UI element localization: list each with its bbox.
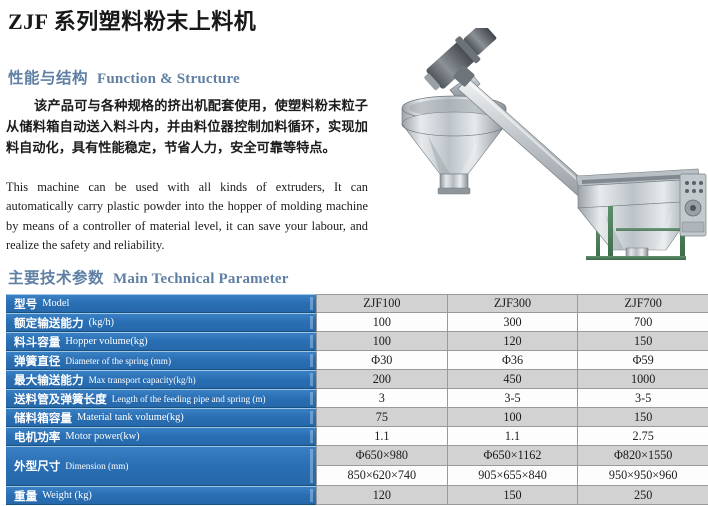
spec-values-wrap: 1.11.12.75 — [316, 427, 708, 446]
spec-label-english: Motor power(kw) — [65, 431, 139, 442]
spec-label-chinese: 型号 — [14, 296, 37, 312]
spec-values-wrap: 100300700 — [316, 313, 708, 332]
spec-label-cell: 电机功率Motor power(kw) — [6, 427, 316, 446]
section-heading-function-cn: 性能与结构 — [8, 70, 88, 87]
function-paragraph-chinese: 该产品可与各种规格的挤出机配套使用，使塑料粉末粒子从储料箱自动送入料斗内，并由料… — [6, 96, 368, 160]
spec-label-chinese: 弹簧直径 — [14, 353, 60, 369]
spec-value-cell: 700 — [578, 313, 708, 332]
spec-value-cell: 3-5 — [578, 389, 708, 408]
spec-value-cell: 1.1 — [448, 427, 579, 446]
spec-value-cell: 2.75 — [578, 427, 708, 446]
spec-value-cell: 950×950×960 — [578, 466, 708, 486]
section-heading-function-en: Function & Structure — [97, 71, 240, 87]
spec-values-row: ZJF100ZJF300ZJF700 — [317, 294, 708, 313]
spec-label-cell: 储料箱容量Material tank volume(kg) — [6, 408, 316, 427]
spec-value-cell: 100 — [317, 313, 448, 332]
spec-value-cell: 200 — [317, 370, 448, 389]
spec-label-cell: 弹簧直径Diameter of the spring (mm) — [6, 351, 316, 370]
spec-value-cell: 850×620×740 — [317, 466, 448, 486]
spec-value-cell: 120 — [317, 486, 448, 505]
spec-label-english: Dimension (mm) — [65, 461, 128, 471]
spec-value-cell: 3 — [317, 389, 448, 408]
spec-values-row: 850×620×740905×655×840950×950×960 — [317, 466, 708, 486]
spec-values-wrap: 100120150 — [316, 332, 708, 351]
spec-label-cell: 重量Weight (kg) — [6, 486, 316, 505]
spec-label-cell: 额定输送能力(kg/h) — [6, 313, 316, 332]
spec-label-english: Max transport capacity(kg/h) — [89, 375, 196, 385]
table-row: 重量Weight (kg)120150250 — [6, 486, 708, 505]
spec-values-wrap: 2004501000 — [316, 370, 708, 389]
spec-value-cell: 120 — [448, 332, 579, 351]
table-row: 储料箱容量Material tank volume(kg)75100150 — [6, 408, 708, 427]
spec-value-cell: ZJF300 — [448, 294, 579, 313]
spec-value-cell: Φ650×1162 — [448, 446, 579, 466]
section-heading-parameters-cn: 主要技术参数 — [8, 270, 104, 287]
spec-values-row: 120150250 — [317, 486, 708, 505]
spec-value-cell: 905×655×840 — [448, 466, 579, 486]
spec-label-chinese: 外型尺寸 — [14, 458, 60, 474]
spec-label-english: Model — [42, 298, 69, 309]
section-heading-parameters-en: Main Technical Parameter — [113, 271, 289, 287]
spec-values-wrap: 75100150 — [316, 408, 708, 427]
page-title: ZJF 系列塑料粉末上料机 — [8, 4, 256, 36]
table-row: 电机功率Motor power(kw)1.11.12.75 — [6, 427, 708, 446]
spec-label-chinese: 送料管及弹簧长度 — [14, 391, 107, 407]
spec-label-english: Hopper volume(kg) — [65, 336, 147, 347]
spec-label-cell: 料斗容量Hopper volume(kg) — [6, 332, 316, 351]
spec-values-row: 75100150 — [317, 408, 708, 427]
spec-label-chinese: 重量 — [14, 488, 37, 504]
spec-label-chinese: 储料箱容量 — [14, 410, 72, 426]
spec-value-cell: Φ650×980 — [317, 446, 448, 466]
spec-value-cell: 450 — [448, 370, 579, 389]
function-paragraph-english: This machine can be used with all kinds … — [6, 178, 368, 256]
spec-value-cell: 150 — [578, 332, 708, 351]
spec-value-cell: 100 — [317, 332, 448, 351]
machine-illustration — [380, 28, 708, 260]
table-row: 额定输送能力(kg/h)100300700 — [6, 313, 708, 332]
table-row: 送料管及弹簧长度Length of the feeding pipe and s… — [6, 389, 708, 408]
product-photo-screw-feeder — [380, 28, 708, 260]
spec-values-wrap: Φ650×980Φ650×1162Φ820×1550850×620×740905… — [316, 446, 708, 486]
spec-value-cell: ZJF100 — [317, 294, 448, 313]
spec-value-cell: Φ30 — [317, 351, 448, 370]
section-heading-parameters: 主要技术参数Main Technical Parameter — [8, 266, 289, 288]
spec-values-row: Φ30Φ36Φ59 — [317, 351, 708, 370]
spec-value-cell: 3-5 — [448, 389, 579, 408]
spec-value-cell: Φ59 — [578, 351, 708, 370]
spec-value-cell: Φ36 — [448, 351, 579, 370]
spec-table: 型号ModelZJF100ZJF300ZJF700额定输送能力(kg/h)100… — [6, 294, 708, 505]
spec-label-cell: 型号Model — [6, 294, 316, 313]
spec-value-cell: 300 — [448, 313, 579, 332]
spec-values-wrap: 33-53-5 — [316, 389, 708, 408]
spec-value-cell: Φ820×1550 — [578, 446, 708, 466]
spec-values-wrap: Φ30Φ36Φ59 — [316, 351, 708, 370]
section-heading-function: 性能与结构Function & Structure — [8, 66, 240, 88]
spec-label-chinese: 电机功率 — [14, 429, 60, 445]
table-row: 型号ModelZJF100ZJF300ZJF700 — [6, 294, 708, 313]
spec-label-cell: 外型尺寸Dimension (mm) — [6, 446, 316, 486]
table-row: 弹簧直径Diameter of the spring (mm)Φ30Φ36Φ59 — [6, 351, 708, 370]
spec-values-row: 1.11.12.75 — [317, 427, 708, 446]
spec-values-row: 100300700 — [317, 313, 708, 332]
spec-label-chinese: 料斗容量 — [14, 334, 60, 350]
spec-value-cell: ZJF700 — [578, 294, 708, 313]
spec-values-wrap: 120150250 — [316, 486, 708, 505]
table-row: 最大输送能力Max transport capacity(kg/h)200450… — [6, 370, 708, 389]
spec-values-wrap: ZJF100ZJF300ZJF700 — [316, 294, 708, 313]
spec-value-cell: 100 — [448, 408, 579, 427]
spec-label-english: (kg/h) — [89, 317, 114, 328]
spec-label-chinese: 最大输送能力 — [14, 372, 84, 388]
spec-value-cell: 1.1 — [317, 427, 448, 446]
table-row: 料斗容量Hopper volume(kg)100120150 — [6, 332, 708, 351]
spec-value-cell: 150 — [448, 486, 579, 505]
spec-values-row: Φ650×980Φ650×1162Φ820×1550 — [317, 446, 708, 466]
spec-label-english: Diameter of the spring (mm) — [65, 356, 171, 366]
table-row-dimension: 外型尺寸Dimension (mm)Φ650×980Φ650×1162Φ820×… — [6, 446, 708, 486]
spec-label-chinese: 额定输送能力 — [14, 315, 84, 331]
spec-label-english: Material tank volume(kg) — [77, 412, 184, 423]
spec-values-row: 100120150 — [317, 332, 708, 351]
spec-label-english: Weight (kg) — [42, 490, 92, 501]
spec-value-cell: 150 — [578, 408, 708, 427]
spec-value-cell: 1000 — [578, 370, 708, 389]
spec-value-cell: 250 — [578, 486, 708, 505]
spec-label-english: Length of the feeding pipe and spring (m… — [112, 394, 266, 404]
spec-values-row: 2004501000 — [317, 370, 708, 389]
spec-values-row: 33-53-5 — [317, 389, 708, 408]
spec-value-cell: 75 — [317, 408, 448, 427]
spec-label-cell: 最大输送能力Max transport capacity(kg/h) — [6, 370, 316, 389]
spec-label-cell: 送料管及弹簧长度Length of the feeding pipe and s… — [6, 389, 316, 408]
